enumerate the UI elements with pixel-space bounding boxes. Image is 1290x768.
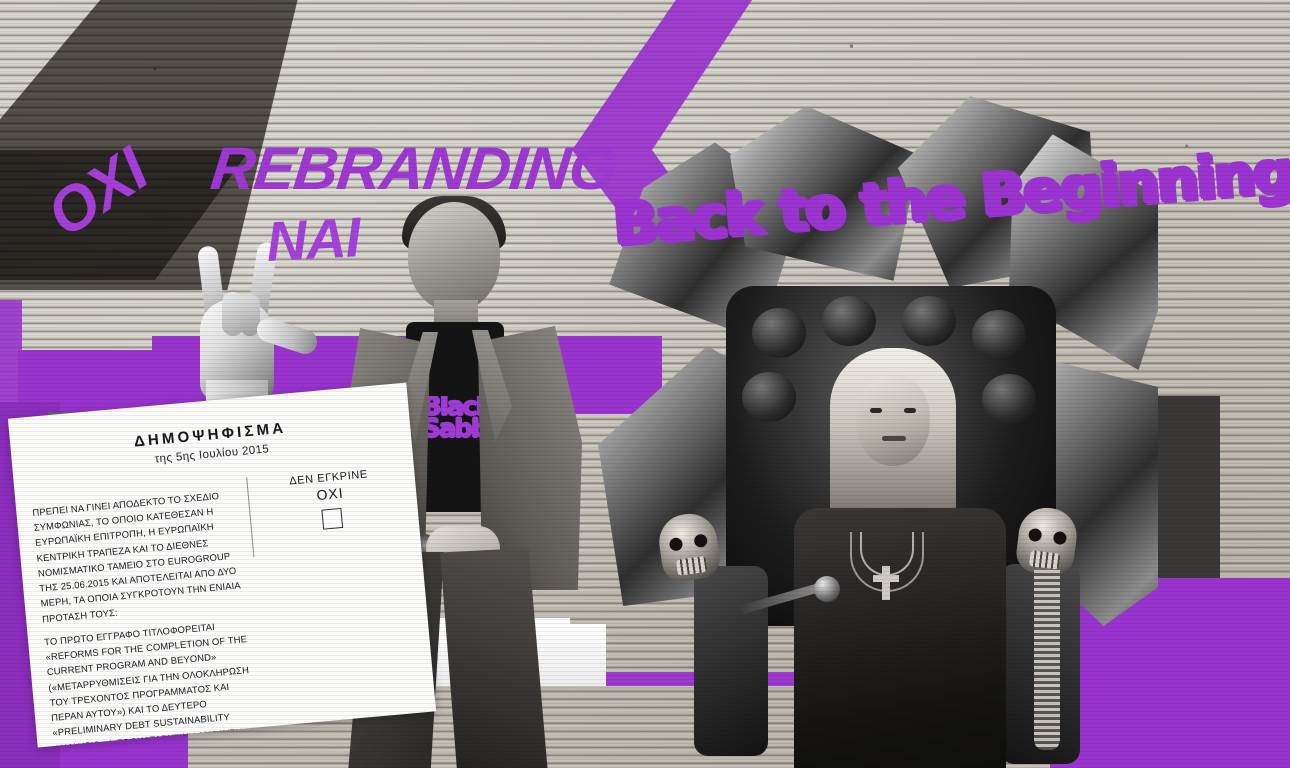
referendum-ballot-paper: ΔΗΜΟΨΗΦΙΣΜΑ της 5ης Ιουλίου 2015 ΔΕΝ ΕΓΚ… bbox=[8, 383, 436, 748]
skull-eye-left bbox=[1028, 528, 1042, 542]
ozzy-eye-right bbox=[904, 408, 916, 413]
collage-canvas: ☠ Black Sabbath ΔΗΜΟΨΗΦΙΣΜΑ της 5ης Ιουλ… bbox=[0, 0, 1290, 768]
headline-nai: ΝΑΙ bbox=[265, 209, 361, 270]
ballot-paragraph: ΤΟ ΠΡΩΤΟ ΕΓΓΡΑΦΟ ΤΙΤΛΟΦΟΡΕΙΤΑΙ «REFORMS … bbox=[44, 615, 270, 748]
skull-jaw bbox=[676, 556, 708, 576]
throne-tuft bbox=[742, 372, 796, 422]
throne-tuft bbox=[752, 308, 806, 358]
skull-eye-right bbox=[1053, 531, 1067, 545]
throne-tassel bbox=[1034, 570, 1060, 750]
throne-tuft bbox=[822, 296, 876, 346]
ballot-option-no: ΔΕΝ ΕΓΚΡΙΝΕ ΟΧΙ bbox=[258, 466, 403, 535]
throne-armrest-left bbox=[694, 566, 768, 756]
ballot-paragraph: ΠΡΕΠΕΙ ΝΑ ΓΙΝΕΙ ΑΠΟΔΕΚΤΟ ΤΟ ΣΧΕΔΙΟ ΣΥΜΦΩ… bbox=[32, 486, 256, 627]
ozzy-face bbox=[856, 374, 930, 466]
skull-eye-right bbox=[693, 533, 708, 548]
man-head bbox=[408, 202, 500, 312]
headline-rebranding: REBRANDING bbox=[208, 139, 619, 199]
ballot-checkbox[interactable] bbox=[321, 508, 343, 530]
microphone-head bbox=[814, 576, 840, 602]
throne-tuft bbox=[982, 374, 1036, 424]
throne-tuft bbox=[902, 296, 956, 346]
skull-eye-left bbox=[669, 537, 684, 552]
ballot-body-text: ΠΡΕΠΕΙ ΝΑ ΓΙΝΕΙ ΑΠΟΔΕΚΤΟ ΤΟ ΣΧΕΔΙΟ ΣΥΜΦΩ… bbox=[32, 486, 270, 748]
ozzy-cross-pendant bbox=[882, 566, 890, 600]
ozzy-eye-left bbox=[870, 408, 882, 413]
throne-tuft bbox=[972, 310, 1026, 360]
skull-jaw bbox=[1029, 550, 1061, 570]
ozzy-mouth bbox=[882, 436, 906, 441]
